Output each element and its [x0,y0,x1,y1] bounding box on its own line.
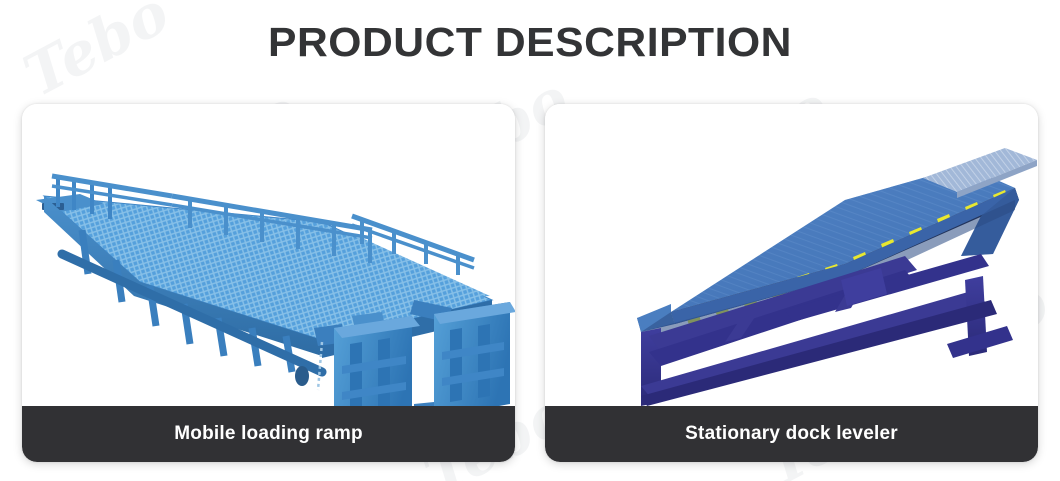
stationary-dock-leveler-illustration [545,104,1038,406]
page-title: PRODUCT DESCRIPTION [0,18,1060,66]
product-card-grid: Mobile loading ramp [22,104,1038,462]
lip-plate-right [434,302,515,406]
product-caption-bar-stationary-dock-leveler: Stationary dock leveler [545,406,1038,462]
product-caption-bar-mobile-loading-ramp: Mobile loading ramp [22,406,515,462]
product-photo-mobile-loading-ramp [22,104,515,406]
product-caption-label: Mobile loading ramp [174,423,363,445]
product-caption-label: Stationary dock leveler [685,423,898,445]
product-card-stationary-dock-leveler[interactable]: Stationary dock leveler [545,104,1038,462]
mobile-loading-ramp-illustration [22,104,515,406]
product-photo-stationary-dock-leveler [545,104,1038,406]
lip-plate-left [334,316,420,406]
product-card-mobile-loading-ramp[interactable]: Mobile loading ramp [22,104,515,462]
